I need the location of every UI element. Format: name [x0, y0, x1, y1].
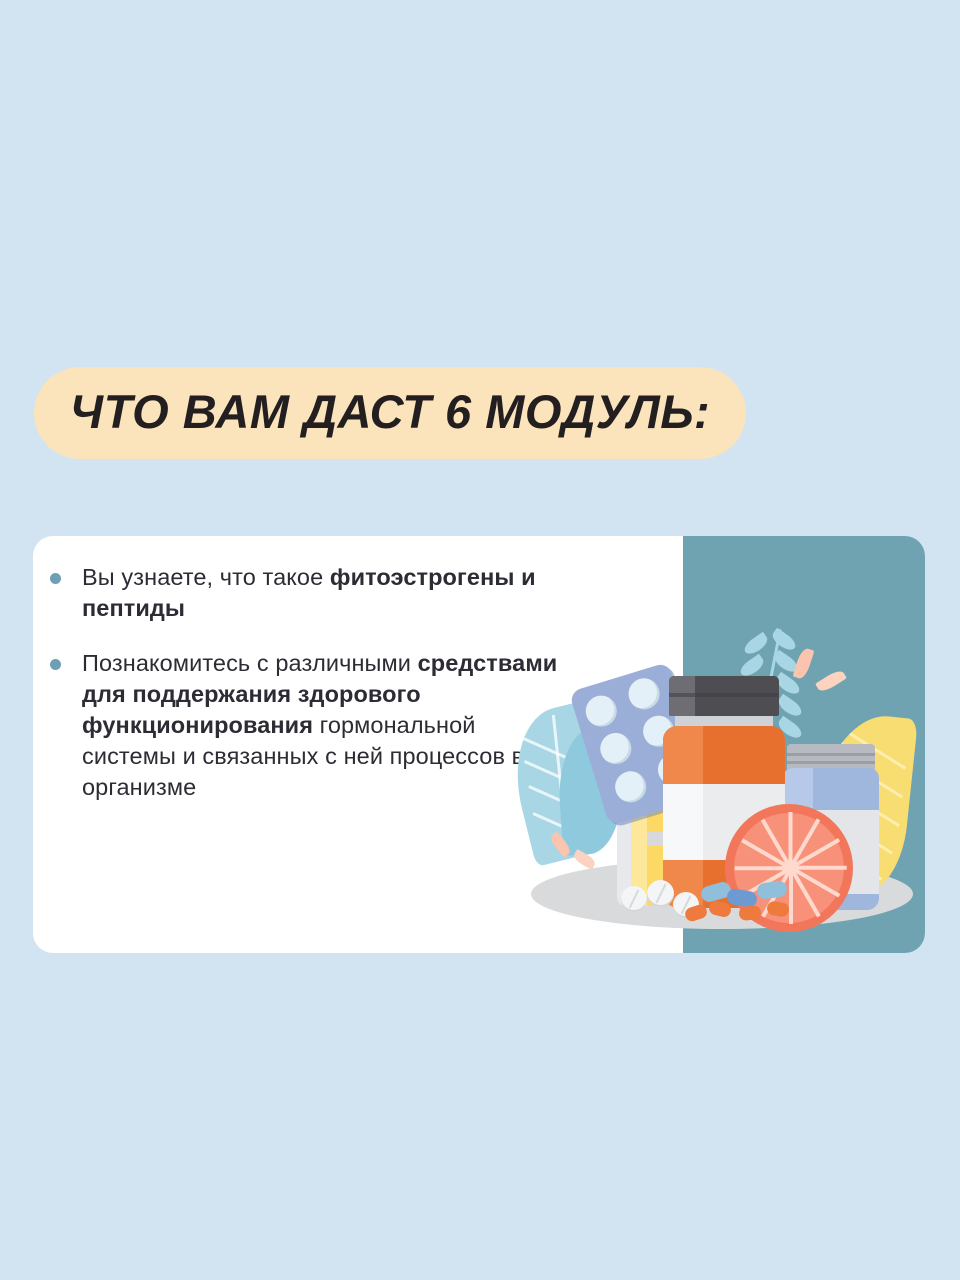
page-title: ЧТО ВАМ ДАСТ 6 МОДУЛЬ:: [70, 384, 710, 439]
benefits-list: Вы узнаете, что такое фитоэстрогены и пе…: [50, 562, 570, 827]
list-item-text-plain: Вы узнаете, что такое: [82, 564, 330, 590]
list-item: Познакомитесь с различными средствами дл…: [50, 648, 570, 803]
tablet-icon: [621, 886, 647, 912]
supplements-illustration: [513, 596, 925, 953]
list-item-text-plain: Познакомитесь с различными: [82, 650, 418, 676]
tablet-icon: [647, 880, 674, 907]
list-item: Вы узнаете, что такое фитоэстрогены и пе…: [50, 562, 570, 624]
content-card: Вы узнаете, что такое фитоэстрогены и пе…: [33, 536, 925, 953]
title-banner: ЧТО ВАМ ДАСТ 6 МОДУЛЬ:: [34, 367, 746, 459]
list-item-text: Вы узнаете, что такое фитоэстрогены и пе…: [82, 562, 570, 624]
list-item-text: Познакомитесь с различными средствами дл…: [82, 648, 570, 803]
bullet-dot-icon: [50, 573, 61, 584]
bullet-dot-icon: [50, 659, 61, 670]
petal-icon: [815, 668, 847, 694]
